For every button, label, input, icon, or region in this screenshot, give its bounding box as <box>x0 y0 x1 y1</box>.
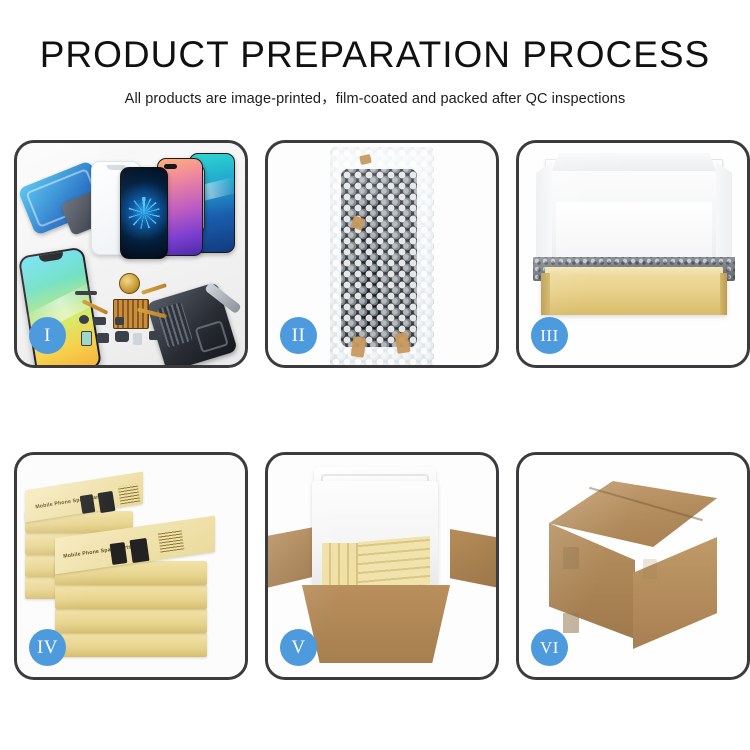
speaker-part-icon <box>119 273 140 294</box>
process-step-5: V <box>265 452 499 680</box>
part-icon <box>97 333 109 343</box>
screen-thumb-icon <box>80 494 96 514</box>
tape-icon <box>351 336 367 358</box>
process-step-grid: I II <box>14 140 736 680</box>
part-icon <box>79 315 89 324</box>
process-step-6: VI <box>516 452 750 680</box>
product-preparation-infographic: PRODUCT PREPARATION PROCESS All products… <box>0 0 750 750</box>
packed-yellow-boxes-stacked <box>358 536 430 590</box>
part-icon <box>115 331 129 342</box>
bubble-wrap-pouch <box>330 147 434 365</box>
page-subtitle: All products are image-printed，film-coat… <box>0 87 750 108</box>
step-badge-6: VI <box>531 629 568 666</box>
step-badge-1: I <box>29 317 66 354</box>
process-step-3: III <box>516 140 750 368</box>
sealed-kraft-carton <box>535 481 731 653</box>
carton-flap-left <box>268 527 314 589</box>
flex-cable-icon <box>141 283 167 295</box>
kraft-carton-body <box>302 585 450 663</box>
screen-thumb-icon <box>98 491 116 513</box>
carton-flap-right <box>450 529 496 589</box>
dark-burst-phone-icon <box>120 167 168 259</box>
screen-thumb-icon <box>110 542 128 565</box>
part-icon <box>149 331 161 340</box>
carton-left-face <box>549 523 635 639</box>
spare-parts-cluster <box>75 271 191 359</box>
carton-right-face <box>633 537 717 649</box>
part-icon <box>93 317 106 325</box>
part-icon <box>115 317 124 325</box>
step-badge-5: V <box>280 629 317 666</box>
yellow-box-base <box>541 273 727 315</box>
page-title: PRODUCT PREPARATION PROCESS <box>0 36 750 75</box>
bubble-texture-overlay <box>330 147 434 365</box>
header: PRODUCT PREPARATION PROCESS All products… <box>0 36 750 108</box>
carton-tape-icon <box>643 559 657 579</box>
process-step-1: I <box>14 140 248 368</box>
box-spec-lines <box>118 484 141 505</box>
step-badge-4: IV <box>29 629 66 666</box>
step-badge-2: II <box>280 317 317 354</box>
part-icon <box>81 331 92 346</box>
carton-tape-icon <box>563 613 579 633</box>
box-spec-lines <box>158 529 185 552</box>
screen-thumb-icon <box>129 538 149 563</box>
step-badge-3: III <box>531 317 568 354</box>
part-icon <box>75 291 97 295</box>
process-step-2: II <box>265 140 499 368</box>
flex-cable-icon <box>82 299 109 315</box>
carton-tape-icon <box>563 547 579 569</box>
process-step-4: Mobile Phone Spare Parts Mobile Phone Sp… <box>14 452 248 680</box>
part-icon <box>133 333 142 345</box>
